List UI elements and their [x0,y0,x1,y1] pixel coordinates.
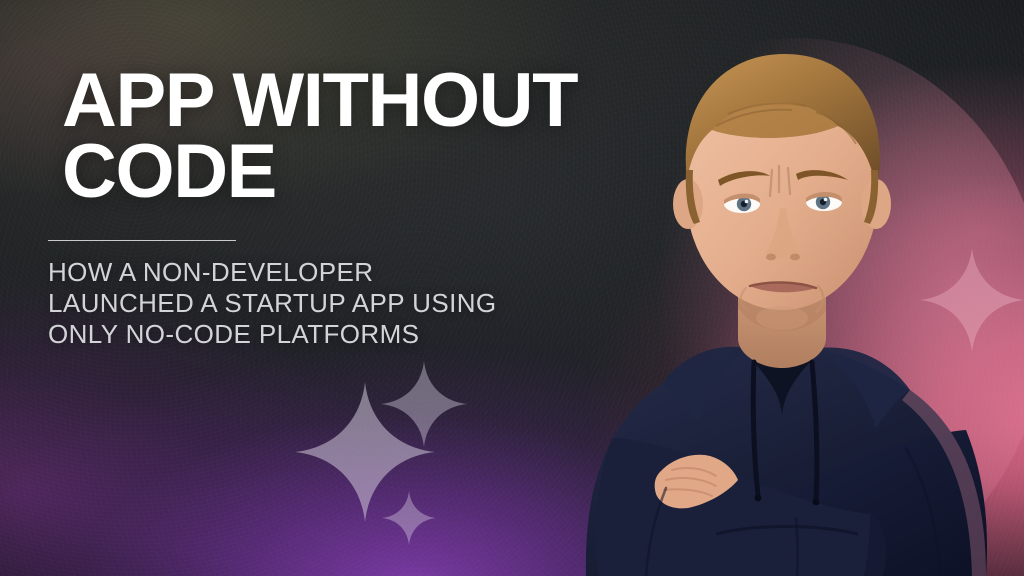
subtitle-line-2: LAUNCHED A STARTUP APP USING [48,288,668,319]
subtitle-line-3: ONLY NO-CODE PLATFORMS [48,319,668,350]
page-title: APP WITHOUT CODE [62,66,702,207]
headline-line-1: APP WITHOUT [62,66,702,137]
subtitle: HOW A NON-DEVELOPER LAUNCHED A STARTUP A… [48,257,668,350]
divider [48,240,236,241]
text-content-block: APP WITHOUT CODE HOW A NON-DEVELOPER LAU… [0,0,700,576]
headline-line-2: CODE [62,137,702,208]
subtitle-line-1: HOW A NON-DEVELOPER [48,257,668,288]
thumbnail-banner: APP WITHOUT CODE HOW A NON-DEVELOPER LAU… [0,0,1024,576]
